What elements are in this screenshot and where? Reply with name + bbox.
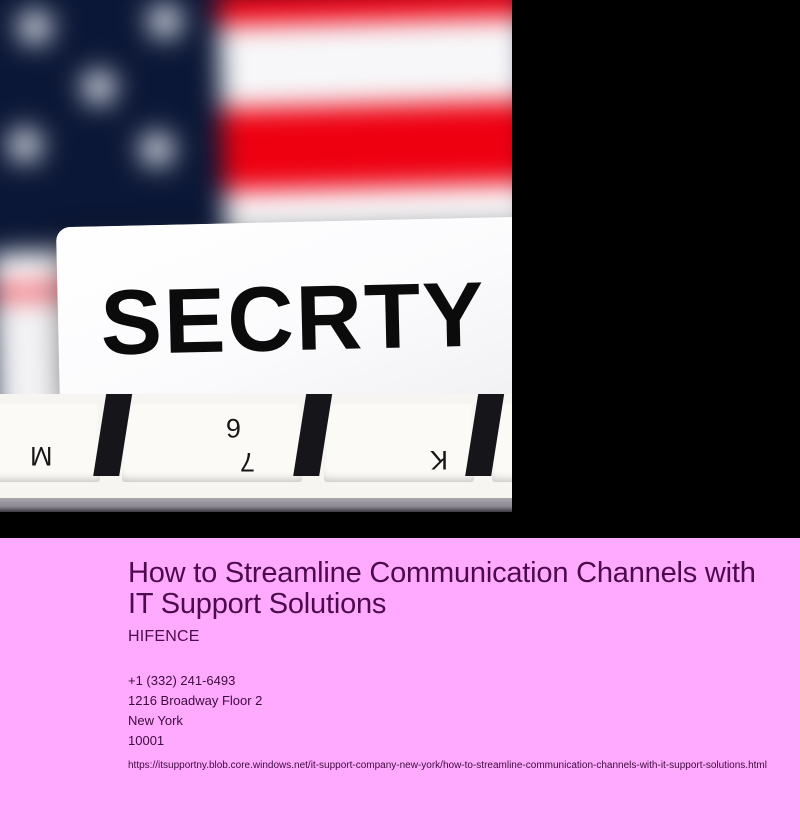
contact-phone[interactable]: +1 (332) 241-6493: [128, 671, 783, 691]
keyboard-glyph-6: 6: [226, 412, 241, 443]
sign-text: SECRTY: [56, 223, 512, 410]
contact-street: 1216 Broadway Floor 2: [128, 691, 783, 711]
content-panel: How to Streamline Communication Channels…: [0, 538, 800, 840]
contact-zip: 10001: [128, 731, 783, 751]
security-sign-card: SECRTY: [56, 217, 512, 410]
keyboard: M 6 7 K: [0, 394, 512, 512]
keyboard-key: [324, 404, 474, 482]
page-url[interactable]: https://itsupportny.blob.core.windows.ne…: [128, 756, 783, 776]
keyboard-glyph-7: 7: [240, 446, 255, 477]
keyboard-key: [122, 404, 302, 482]
keyboard-glyph-k: K: [430, 444, 448, 475]
keyboard-glyph-m: M: [30, 440, 53, 471]
keyboard-base: [0, 498, 512, 512]
content-inner: How to Streamline Communication Channels…: [128, 558, 783, 776]
hero-image: SECRTY M 6 7 K: [0, 0, 512, 512]
contact-city: New York: [128, 711, 783, 731]
page-title: How to Streamline Communication Channels…: [128, 558, 783, 620]
brand-name: HIFENCE: [128, 628, 783, 646]
contact-block: +1 (332) 241-6493 1216 Broadway Floor 2 …: [128, 671, 783, 776]
black-divider-band: [0, 512, 800, 538]
page-root: SECRTY M 6 7 K How to Streamline Communi…: [0, 0, 800, 840]
